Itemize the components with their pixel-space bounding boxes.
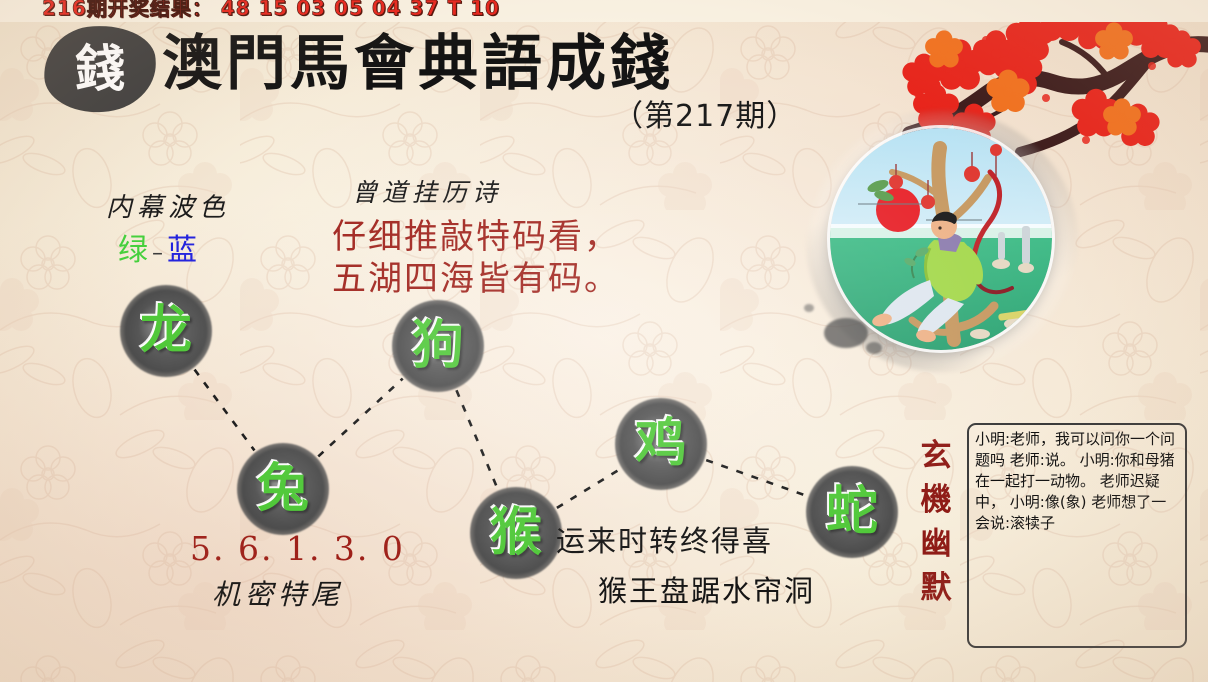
zodiac-node-蛇[interactable]: 蛇 [806, 466, 898, 558]
poem-line-2: 五湖四海皆有码。 [332, 258, 620, 300]
color-value-green: 绿 [118, 233, 150, 268]
zodiac-label: 蛇 [806, 466, 898, 558]
ink-splat-decoration-tiny [804, 304, 814, 312]
zodiac-node-兔[interactable]: 兔 [237, 443, 329, 535]
poem-line-1: 仔细推敲特码看， [332, 216, 620, 258]
mystery-humor-vertical-label: 玄機幽默 [916, 434, 956, 610]
humor-text: 小明:老师，我可以问你一个问题吗 老师:说。 小明:你和母猪在一起打一动物。 老… [975, 429, 1180, 534]
issue-number: （第217期） [613, 98, 797, 136]
lottery-result-ticker: 216期开奖结果： 48 15 03 05 04 37 T 10 [0, 0, 1208, 22]
page-root: 龙狗兔鸡猴蛇 216期开奖结果： 48 15 03 05 04 37 T 10 … [0, 0, 1208, 682]
zodiac-label: 鸡 [615, 398, 707, 490]
vertical-label-char-2: 幽 [916, 522, 956, 566]
seal-character: 錢 [44, 26, 156, 114]
inside-wave-color-label: 内幕波色 [106, 192, 230, 224]
zodiac-node-狗[interactable]: 狗 [392, 300, 484, 392]
zodiac-label: 龙 [120, 285, 212, 377]
color-separator: – [150, 241, 167, 266]
vertical-label-char-1: 機 [916, 478, 956, 522]
humor-text-box: 小明:老师，我可以问你一个问题吗 老师:说。 小明:你和母猪在一起打一动物。 老… [967, 423, 1187, 648]
zodiac-node-猴[interactable]: 猴 [470, 487, 562, 579]
zodiac-label: 兔 [237, 443, 329, 535]
verse-line-1: 运来时转终得喜 [556, 523, 773, 559]
secret-tail-label: 机密特尾 [212, 578, 344, 612]
zodiac-node-龙[interactable]: 龙 [120, 285, 212, 377]
ink-splat-decoration [824, 318, 868, 348]
page-title: 澳門馬會典語成錢 [162, 28, 674, 100]
vertical-label-char-0: 玄 [916, 434, 956, 478]
poem-body: 仔细推敲特码看， 五湖四海皆有码。 [332, 216, 620, 300]
vertical-label-char-3: 默 [916, 566, 956, 610]
secret-tail-numbers: 5. 6. 1. 3. 0 [190, 530, 405, 568]
zodiac-label: 猴 [470, 487, 562, 579]
illustration-medallion [830, 128, 1052, 350]
color-value-blue: 蓝 [167, 233, 199, 268]
verse-line-2: 猴王盘踞水帘洞 [598, 573, 815, 609]
ticker-text: 216期开奖结果： 48 15 03 05 04 37 T 10 [42, 0, 500, 19]
ink-splat-decoration-small [866, 342, 882, 354]
zodiac-node-鸡[interactable]: 鸡 [615, 398, 707, 490]
inside-wave-color-block: 内幕波色 绿–蓝 [106, 192, 230, 271]
inside-wave-color-values: 绿–蓝 [118, 234, 230, 271]
zodiac-label: 狗 [392, 300, 484, 392]
poem-title: 曾道挂历诗 [352, 178, 502, 208]
illustration-disc [830, 128, 1052, 350]
money-seal-logo: 錢 [44, 26, 156, 112]
